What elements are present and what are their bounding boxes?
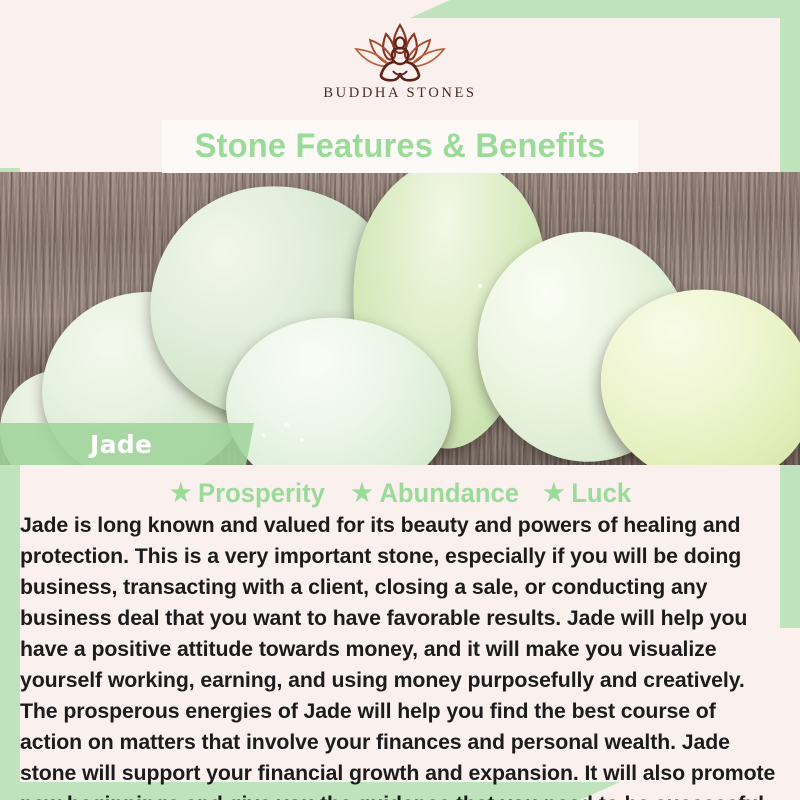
stone-description: Jade is long known and valued for its be… [20,510,780,800]
keyword-label: Abundance [379,478,519,509]
brand-header: BUDDHA STONES [0,0,800,120]
page-title: Stone Features & Benefits [194,127,605,166]
stone-name-band: Jade [0,423,254,465]
keyword-prosperity: ★ Prosperity [170,478,325,509]
star-icon: ★ [351,481,372,506]
lotus-meditation-icon [337,19,463,83]
keyword-list: ★ Prosperity ★ Abundance ★ Luck [0,478,800,509]
stone-photo [0,172,800,465]
star-icon: ★ [170,481,191,506]
keyword-label: Luck [572,478,632,509]
stone-name-label: Jade [90,430,152,459]
stone-speck [262,434,265,437]
stone-speck [478,284,482,288]
keyword-label: Prosperity [198,478,325,509]
stone-speck [284,422,289,427]
keyword-abundance: ★ Abundance [351,478,519,509]
star-icon: ★ [544,481,565,506]
brand-logo: BUDDHA STONES [323,19,476,102]
stone-info-card: BUDDHA STONES Stone Features & Benefits … [0,0,800,800]
brand-name: BUDDHA STONES [323,85,476,102]
title-banner: Stone Features & Benefits [162,120,638,173]
keyword-luck: ★ Luck [544,478,632,509]
stone-speck [300,438,304,442]
